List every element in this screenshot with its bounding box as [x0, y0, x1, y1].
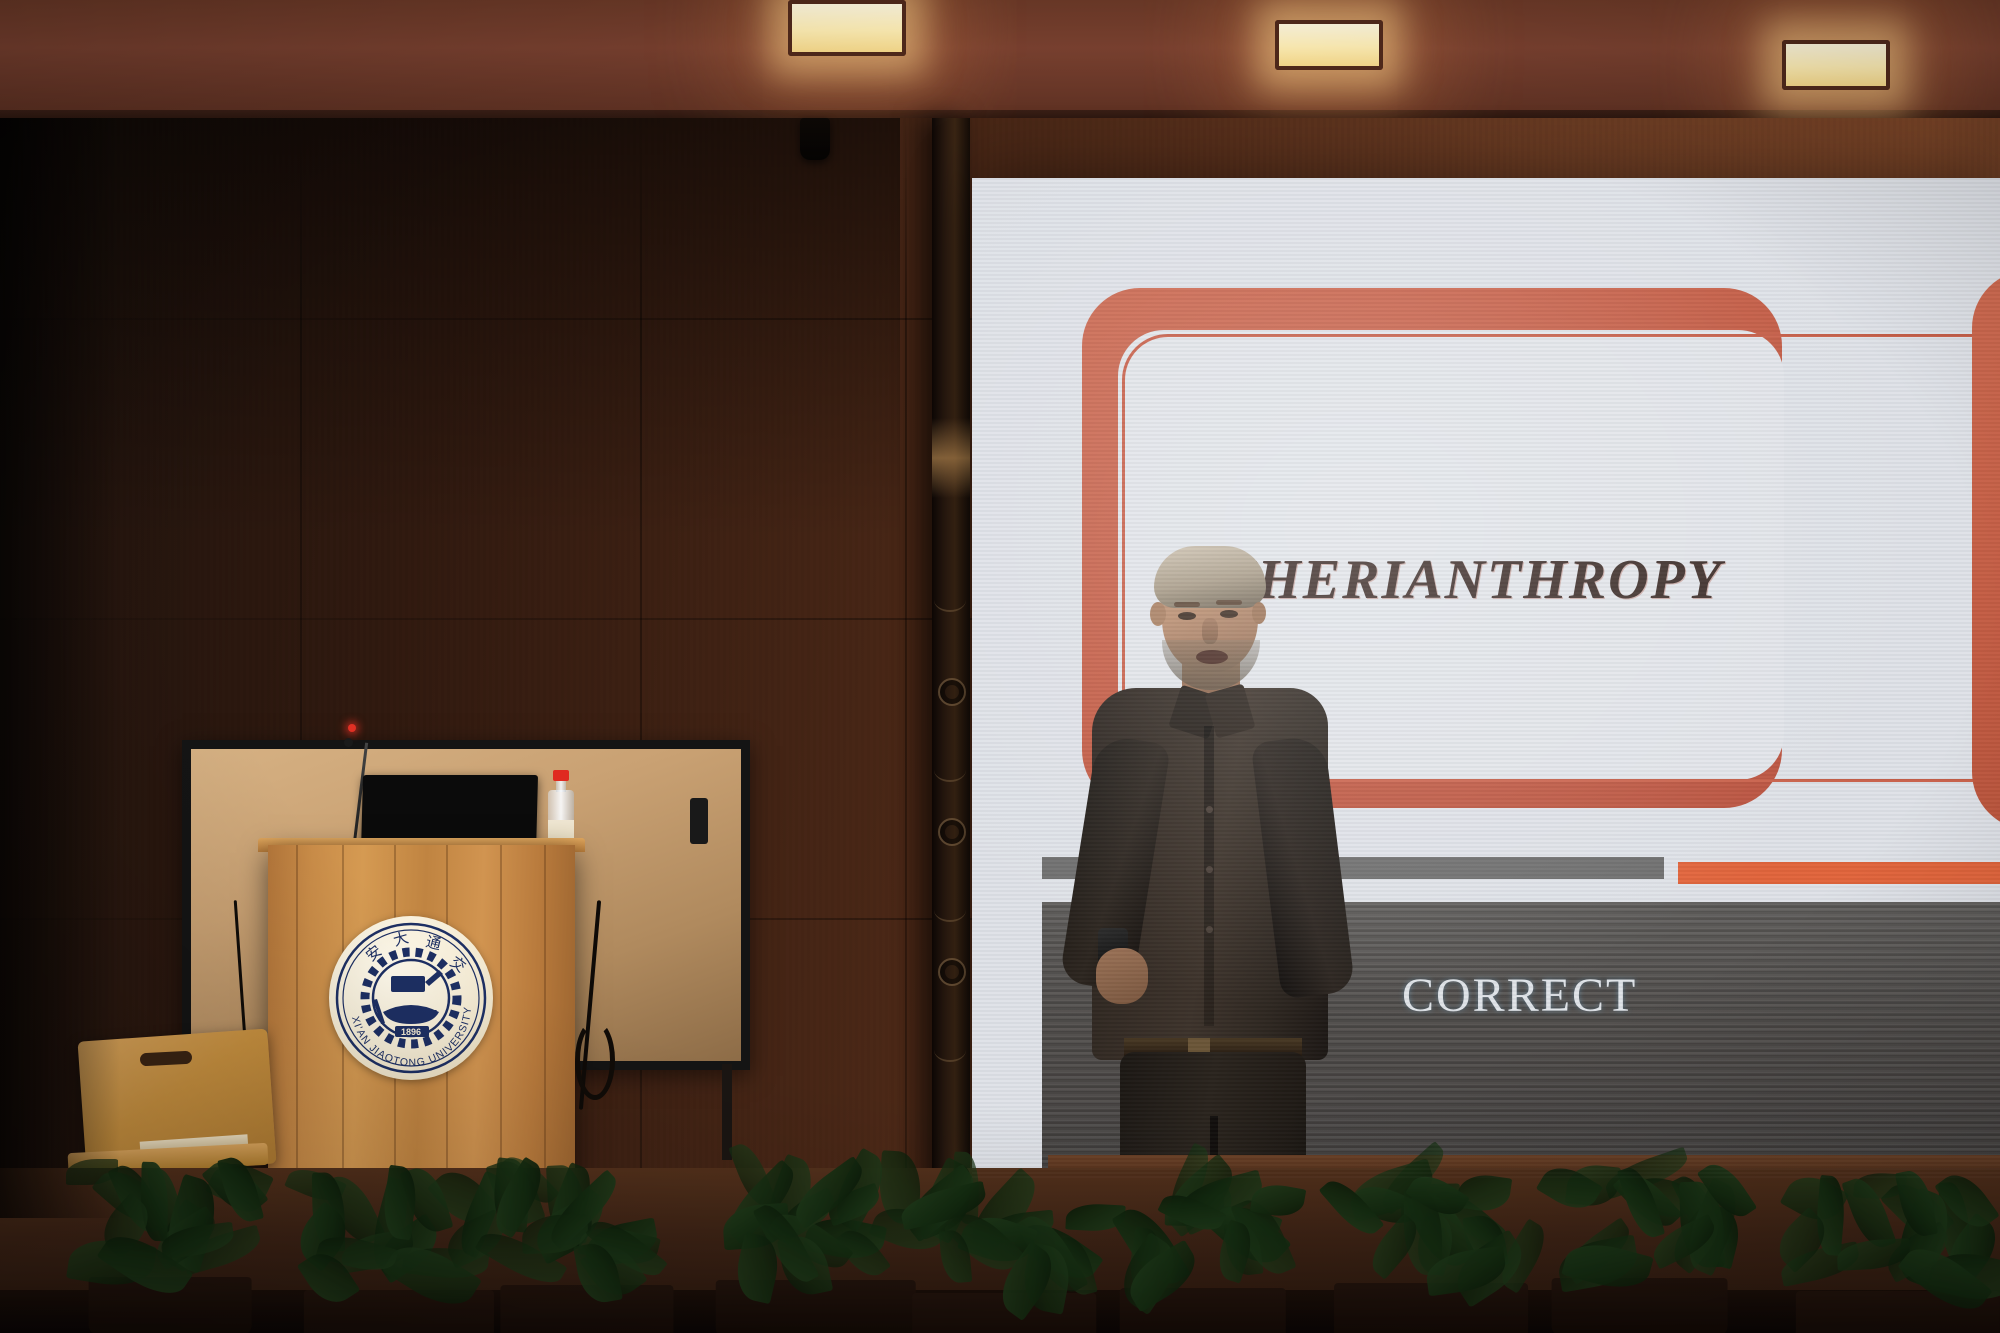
podium-cable-loop: [575, 1020, 615, 1100]
presenter-shirt-placket: [1204, 726, 1214, 1026]
presenter-ear-left: [1150, 602, 1166, 626]
slide-bar-orange: [1678, 862, 2000, 884]
presenter-eye-right: [1220, 610, 1238, 618]
presenter-eye-left: [1178, 612, 1196, 620]
presenter: [1070, 556, 1350, 1176]
svg-text:大: 大: [391, 929, 410, 949]
chair-handle-slot: [140, 1051, 193, 1067]
ceiling-light-1-icon: [788, 0, 906, 56]
presenter-brow-right: [1216, 600, 1242, 605]
presenter-brow-left: [1174, 602, 1200, 607]
svg-text:1896: 1896: [401, 1027, 421, 1037]
slide-subtitle: CORRECT: [1402, 968, 2000, 1023]
ceiling: [0, 0, 2000, 120]
potted-plant: [1760, 1169, 2000, 1333]
microphone-head-icon: [344, 738, 353, 747]
presenter-beard: [1162, 640, 1260, 690]
whiteboard-leg-right: [722, 1064, 732, 1160]
whiteboard-eraser-icon: [690, 798, 708, 844]
ceiling-light-2-icon: [1275, 20, 1383, 70]
presenter-hair: [1154, 546, 1266, 608]
microphone-led-icon: [348, 724, 356, 732]
left-shadow: [0, 118, 120, 1218]
shirt-button: [1206, 866, 1213, 873]
water-bottle-label: [548, 820, 574, 840]
presenter-mouth: [1196, 650, 1228, 664]
water-bottle-cap-icon: [553, 770, 569, 781]
presenter-hand: [1096, 948, 1148, 1004]
plant-leaf: [1456, 1172, 1513, 1215]
potted-plant: [1520, 1156, 1759, 1333]
potted-plant: [470, 1163, 704, 1333]
plant-leaf: [1895, 1168, 1938, 1240]
shirt-button: [1206, 926, 1213, 933]
presenter-ear-right: [1252, 602, 1266, 624]
slide-shape-right-outer: [1972, 270, 2000, 830]
photo-scene: THERIANTHROPY CORRECT: [0, 0, 2000, 1333]
svg-text:通: 通: [424, 933, 443, 953]
university-emblem: 1896 安 大 通 交 XI'AN JIAOTONG UNIVERSITY: [329, 916, 493, 1080]
potted-plant: [1090, 1166, 1315, 1333]
upper-shadow: [0, 118, 900, 538]
shirt-button: [1206, 806, 1213, 813]
ceiling-light-3-icon: [1782, 40, 1890, 90]
ornamental-wall-column: [932, 118, 970, 1208]
